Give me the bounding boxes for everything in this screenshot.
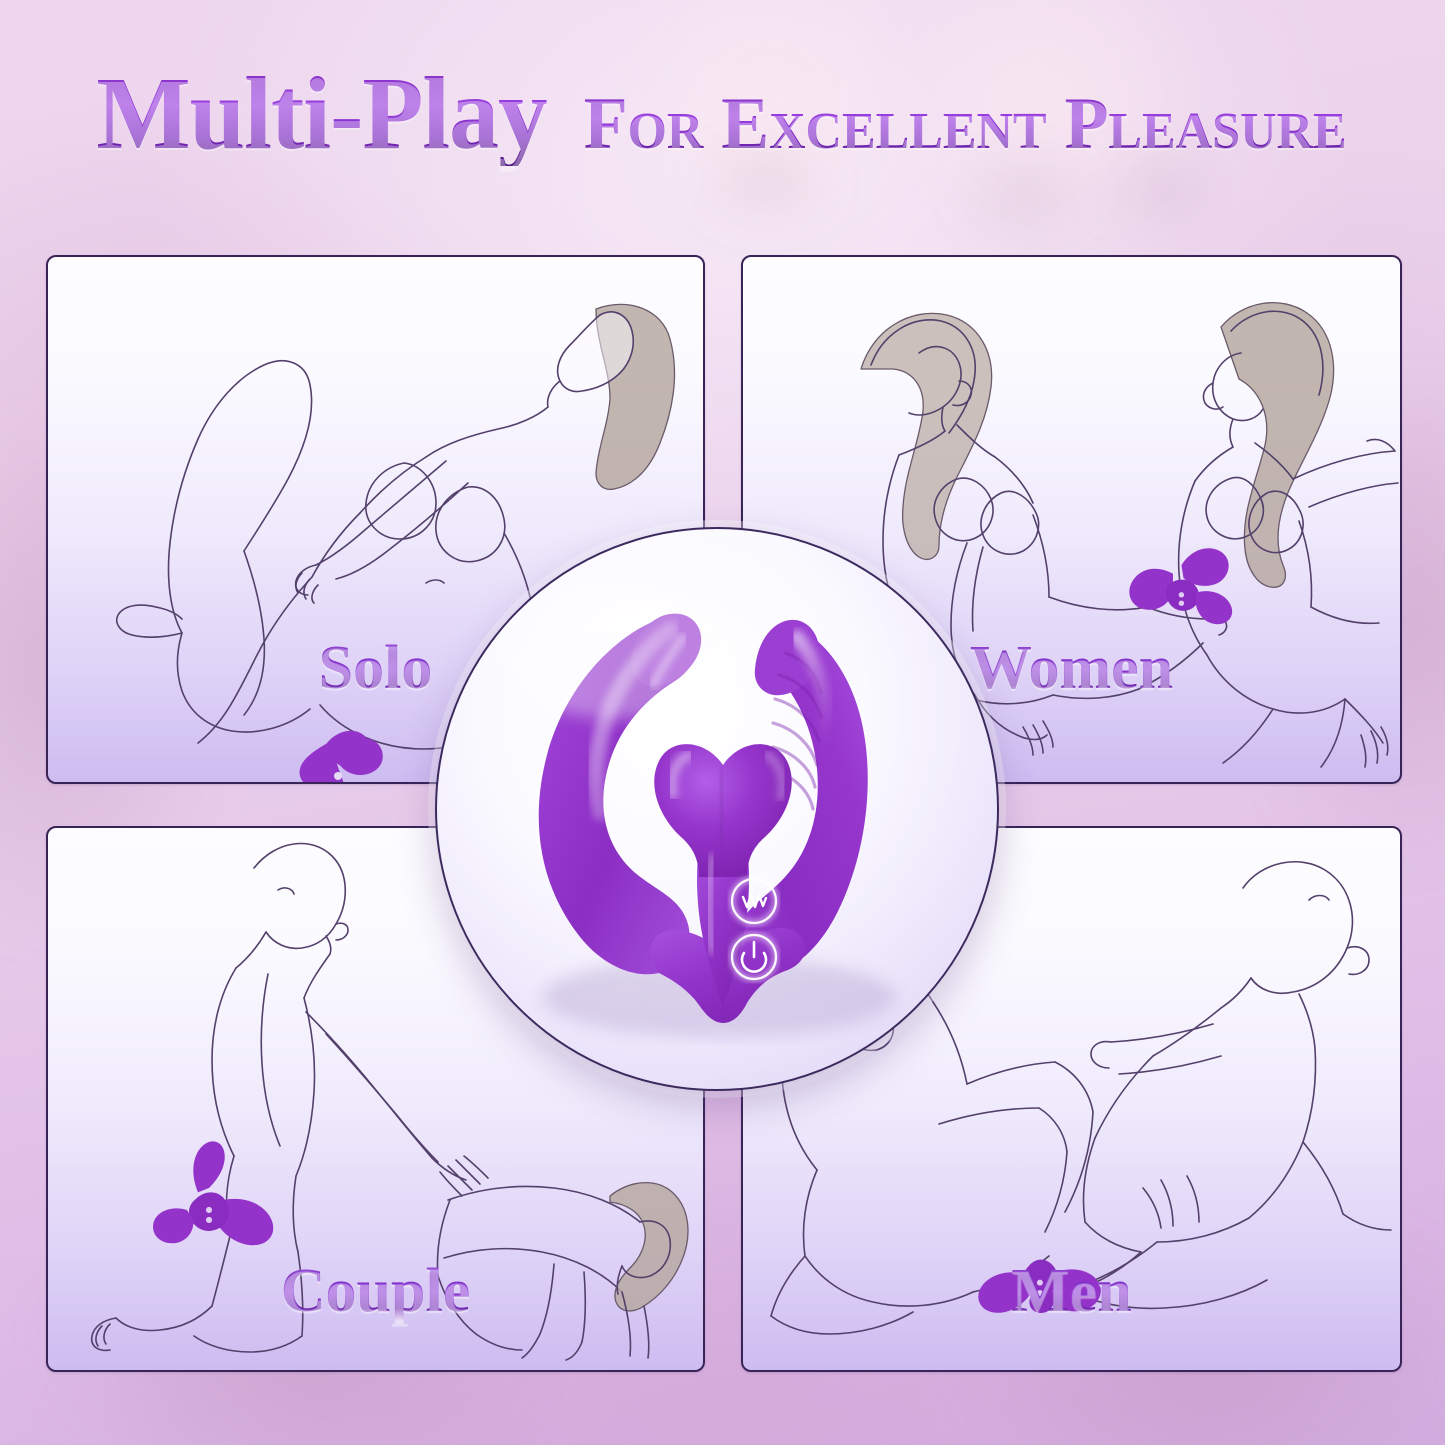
product-icon-solo: [300, 731, 383, 782]
product-icon-women: [1129, 548, 1232, 624]
page-title: Multi-PlayFor Excellent Pleasure: [0, 62, 1445, 166]
product-image: [437, 529, 997, 1089]
title-subtitle: For Excellent Pleasure: [584, 87, 1347, 161]
product-icon-couple: [153, 1141, 273, 1245]
title-main: Multi-Play: [96, 62, 547, 166]
background-eye-blur-2: [960, 170, 1090, 218]
product-marketing-image: Multi-PlayFor Excellent Pleasure: [0, 0, 1445, 1445]
background-eye-blur-1: [700, 160, 830, 208]
background-eye-blur-3: [1100, 165, 1220, 209]
product-showcase-circle[interactable]: [435, 527, 999, 1091]
product-icon-men: [978, 1260, 1100, 1313]
